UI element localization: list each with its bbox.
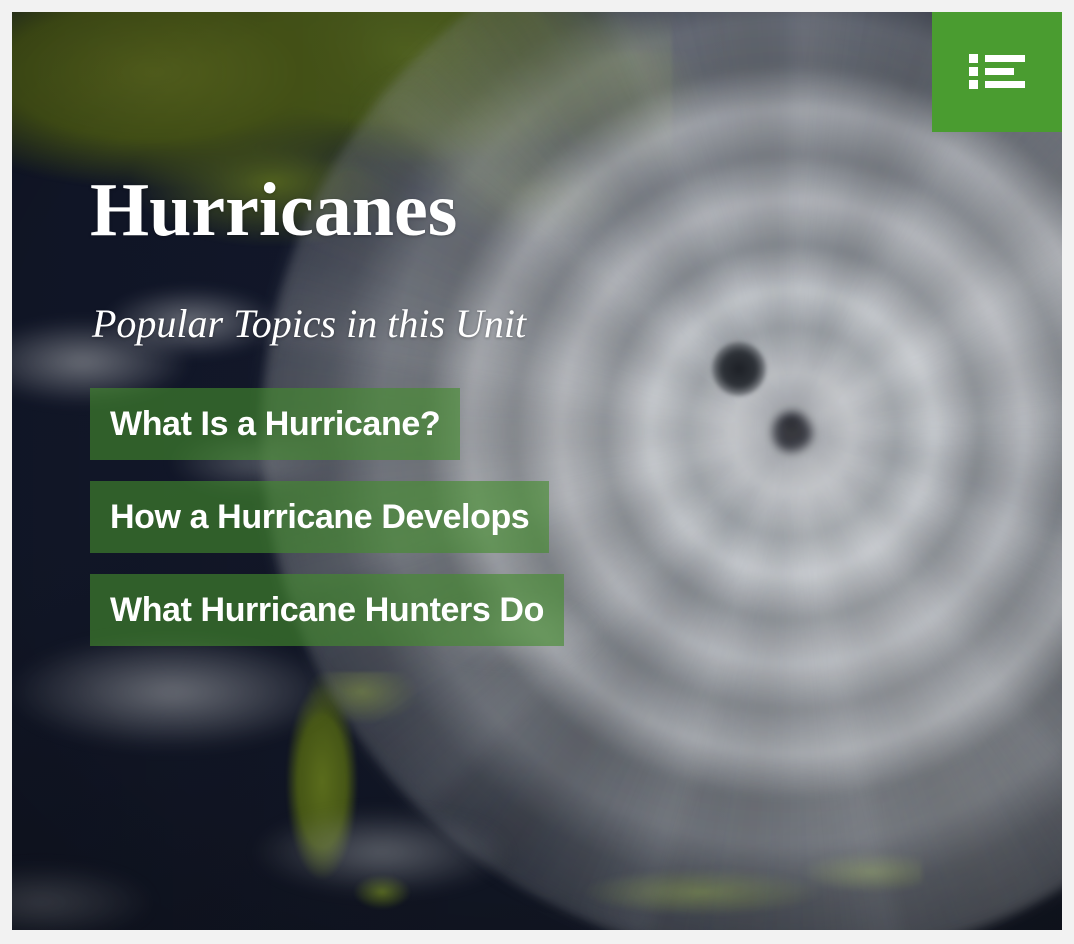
topic-link-what-is-a-hurricane[interactable]: What Is a Hurricane? [90, 388, 460, 460]
page-title: Hurricanes [90, 172, 564, 248]
hero-subtitle: Popular Topics in this Unit [92, 304, 564, 344]
topic-link-what-hurricane-hunters-do[interactable]: What Hurricane Hunters Do [90, 574, 564, 646]
topic-label: How a Hurricane Develops [110, 495, 529, 539]
popular-topics-list: What Is a Hurricane? How a Hurricane Dev… [90, 388, 564, 646]
page-root: Hurricanes Popular Topics in this Unit W… [0, 0, 1074, 944]
topic-label: What Hurricane Hunters Do [110, 588, 544, 632]
list-icon [969, 52, 1025, 92]
hurricane-eye [712, 342, 766, 396]
topic-link-how-a-hurricane-develops[interactable]: How a Hurricane Develops [90, 481, 549, 553]
topic-label: What Is a Hurricane? [110, 402, 440, 446]
hero-content: Hurricanes Popular Topics in this Unit W… [90, 172, 564, 667]
menu-button[interactable] [932, 12, 1062, 132]
hero-banner: Hurricanes Popular Topics in this Unit W… [12, 12, 1062, 930]
